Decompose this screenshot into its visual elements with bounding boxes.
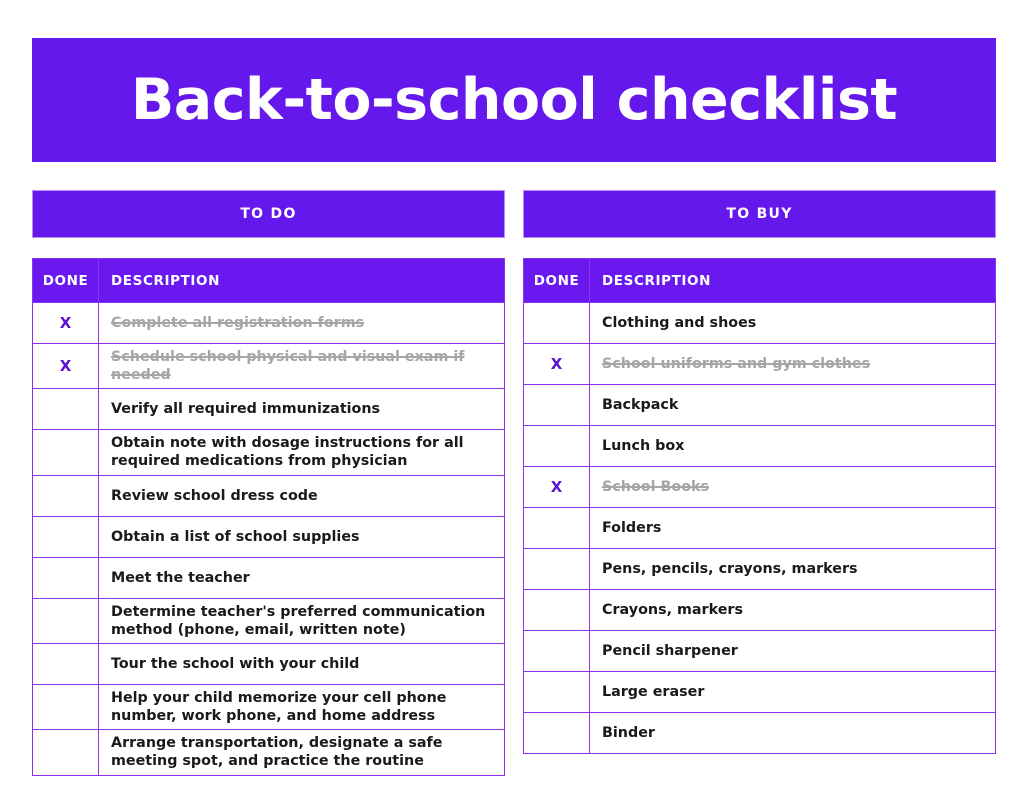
description-cell: Obtain a list of school supplies bbox=[99, 516, 505, 557]
description-cell: Arrange transportation, designate a safe… bbox=[99, 730, 505, 775]
table-to-buy: DONE DESCRIPTION Clothing and shoes X Sc… bbox=[523, 258, 996, 754]
table-row[interactable]: Tour the school with your child bbox=[33, 643, 505, 684]
description-cell: Pencil sharpener bbox=[590, 631, 996, 672]
done-checkbox-cell[interactable]: X bbox=[524, 467, 590, 508]
description-cell: School uniforms and gym clothes bbox=[590, 344, 996, 385]
description-cell: Help your child memorize your cell phone… bbox=[99, 684, 505, 729]
description-cell: Complete all registration forms bbox=[99, 303, 505, 344]
table-row[interactable]: Backpack bbox=[524, 385, 996, 426]
done-checkbox-cell[interactable] bbox=[33, 430, 99, 475]
done-checkbox-cell[interactable] bbox=[524, 713, 590, 754]
section-label-to-buy: TO BUY bbox=[726, 206, 792, 222]
page-title: Back-to-school checklist bbox=[131, 72, 897, 129]
description-cell: Obtain note with dosage instructions for… bbox=[99, 430, 505, 475]
column-header-description: DESCRIPTION bbox=[99, 259, 505, 303]
done-checkbox-cell[interactable] bbox=[33, 389, 99, 430]
section-label-to-do: TO DO bbox=[240, 206, 296, 222]
done-checkbox-cell[interactable]: X bbox=[33, 303, 99, 344]
description-cell: Pens, pencils, crayons, markers bbox=[590, 549, 996, 590]
description-cell: School Books bbox=[590, 467, 996, 508]
column-header-done: DONE bbox=[33, 259, 99, 303]
description-cell: Clothing and shoes bbox=[590, 303, 996, 344]
table-row[interactable]: Large eraser bbox=[524, 672, 996, 713]
description-cell: Binder bbox=[590, 713, 996, 754]
description-cell: Backpack bbox=[590, 385, 996, 426]
table-header-row: DONE DESCRIPTION bbox=[524, 259, 996, 303]
done-checkbox-cell[interactable] bbox=[524, 672, 590, 713]
table-row[interactable]: Folders bbox=[524, 508, 996, 549]
description-cell: Large eraser bbox=[590, 672, 996, 713]
title-banner: Back-to-school checklist bbox=[32, 38, 996, 162]
table-row[interactable]: Clothing and shoes bbox=[524, 303, 996, 344]
done-checkbox-cell[interactable] bbox=[33, 684, 99, 729]
description-cell: Folders bbox=[590, 508, 996, 549]
done-checkbox-cell[interactable] bbox=[524, 303, 590, 344]
table-body-to-do: X Complete all registration forms X Sche… bbox=[33, 303, 505, 776]
table-row[interactable]: Verify all required immunizations bbox=[33, 389, 505, 430]
table-row[interactable]: Determine teacher's preferred communicat… bbox=[33, 598, 505, 643]
done-checkbox-cell[interactable] bbox=[524, 508, 590, 549]
checklist-columns: TO DO DONE DESCRIPTION X Complete all bbox=[32, 190, 996, 776]
description-cell: Tour the school with your child bbox=[99, 643, 505, 684]
table-row[interactable]: X Schedule school physical and visual ex… bbox=[33, 344, 505, 389]
checklist-page: Back-to-school checklist TO DO DONE DESC… bbox=[0, 0, 1028, 800]
table-row[interactable]: Lunch box bbox=[524, 426, 996, 467]
done-checkbox-cell[interactable] bbox=[524, 631, 590, 672]
table-row[interactable]: Crayons, markers bbox=[524, 590, 996, 631]
table-row[interactable]: Help your child memorize your cell phone… bbox=[33, 684, 505, 729]
table-head-to-buy: DONE DESCRIPTION bbox=[524, 259, 996, 303]
done-checkbox-cell[interactable] bbox=[524, 590, 590, 631]
done-checkbox-cell[interactable] bbox=[33, 730, 99, 775]
column-to-do: TO DO DONE DESCRIPTION X Complete all bbox=[32, 190, 505, 776]
done-checkbox-cell[interactable] bbox=[33, 516, 99, 557]
description-cell: Lunch box bbox=[590, 426, 996, 467]
description-cell: Review school dress code bbox=[99, 475, 505, 516]
done-checkbox-cell[interactable] bbox=[524, 549, 590, 590]
table-body-to-buy: Clothing and shoes X School uniforms and… bbox=[524, 303, 996, 754]
done-checkbox-cell[interactable] bbox=[524, 426, 590, 467]
column-header-done: DONE bbox=[524, 259, 590, 303]
description-cell: Meet the teacher bbox=[99, 557, 505, 598]
description-cell: Verify all required immunizations bbox=[99, 389, 505, 430]
table-row[interactable]: Review school dress code bbox=[33, 475, 505, 516]
table-row[interactable]: Binder bbox=[524, 713, 996, 754]
done-checkbox-cell[interactable]: X bbox=[524, 344, 590, 385]
done-checkbox-cell[interactable] bbox=[33, 557, 99, 598]
done-checkbox-cell[interactable]: X bbox=[33, 344, 99, 389]
table-row[interactable]: Pencil sharpener bbox=[524, 631, 996, 672]
table-row[interactable]: Obtain a list of school supplies bbox=[33, 516, 505, 557]
description-cell: Determine teacher's preferred communicat… bbox=[99, 598, 505, 643]
table-row[interactable]: Obtain note with dosage instructions for… bbox=[33, 430, 505, 475]
done-checkbox-cell[interactable] bbox=[524, 385, 590, 426]
table-row[interactable]: Pens, pencils, crayons, markers bbox=[524, 549, 996, 590]
table-to-do: DONE DESCRIPTION X Complete all registra… bbox=[32, 258, 505, 776]
done-checkbox-cell[interactable] bbox=[33, 598, 99, 643]
column-to-buy: TO BUY DONE DESCRIPTION Clothing and bbox=[523, 190, 996, 776]
column-header-description: DESCRIPTION bbox=[590, 259, 996, 303]
description-cell: Schedule school physical and visual exam… bbox=[99, 344, 505, 389]
section-header-to-buy: TO BUY bbox=[523, 190, 996, 238]
table-row[interactable]: X School uniforms and gym clothes bbox=[524, 344, 996, 385]
table-row[interactable]: Meet the teacher bbox=[33, 557, 505, 598]
table-row[interactable]: X Complete all registration forms bbox=[33, 303, 505, 344]
done-checkbox-cell[interactable] bbox=[33, 475, 99, 516]
description-cell: Crayons, markers bbox=[590, 590, 996, 631]
done-checkbox-cell[interactable] bbox=[33, 643, 99, 684]
table-header-row: DONE DESCRIPTION bbox=[33, 259, 505, 303]
table-row[interactable]: X School Books bbox=[524, 467, 996, 508]
section-header-to-do: TO DO bbox=[32, 190, 505, 238]
table-row[interactable]: Arrange transportation, designate a safe… bbox=[33, 730, 505, 775]
table-head-to-do: DONE DESCRIPTION bbox=[33, 259, 505, 303]
